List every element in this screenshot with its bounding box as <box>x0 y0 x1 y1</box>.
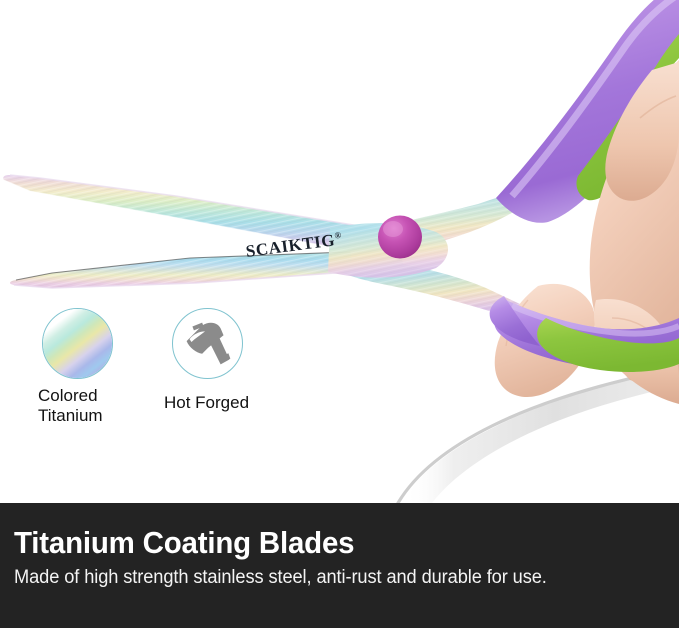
hammer-glyph <box>173 309 242 378</box>
banner-title: Titanium Coating Blades <box>14 526 354 560</box>
product-photo: SCAIKTIG® <box>0 0 679 503</box>
feature-colored-titanium: Colored Titanium <box>42 308 113 426</box>
bottom-banner: Titanium Coating Blades Made of high str… <box>0 503 679 628</box>
banner-subtitle: Made of high strength stainless steel, a… <box>14 566 547 589</box>
feature-label-hot-forged: Hot Forged <box>164 393 249 413</box>
feature-hot-forged: Hot Forged <box>172 308 249 413</box>
product-image: SCAIKTIG® Colored Titanium Hot Forged <box>0 0 679 628</box>
pivot-screw <box>378 216 422 259</box>
rainbow-gradient-band <box>42 308 113 379</box>
feature-label-colored-titanium: Colored Titanium <box>38 386 113 426</box>
hammer-icon <box>172 308 243 379</box>
scissors-illustration <box>0 0 679 503</box>
rainbow-titanium-icon <box>42 308 113 379</box>
